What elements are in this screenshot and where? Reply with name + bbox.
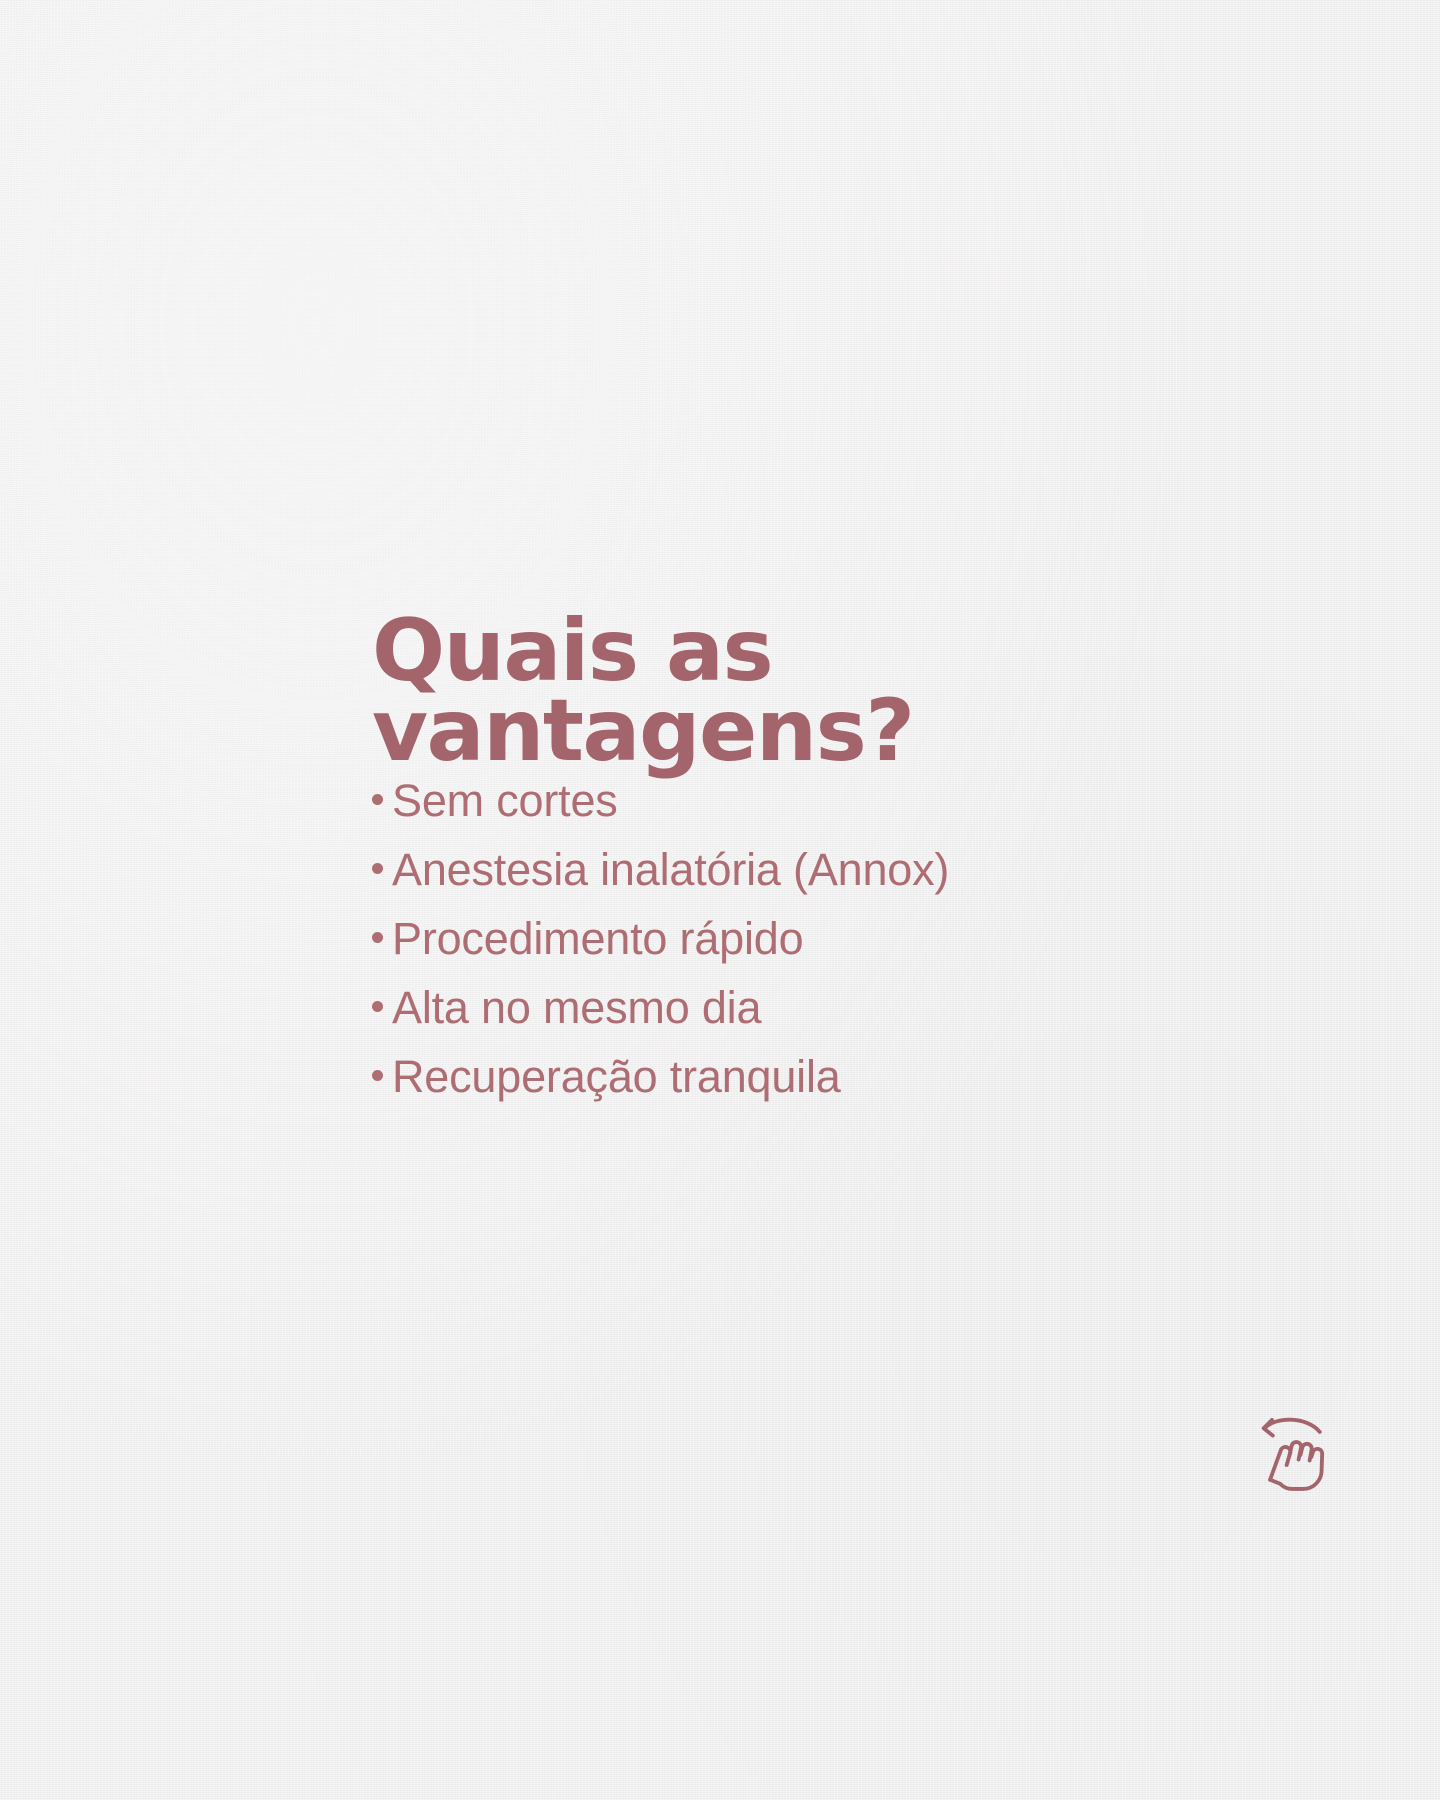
- advantages-list: Sem cortes Anestesia inalatória (Annox) …: [372, 778, 1072, 1099]
- bullet-icon: [372, 863, 383, 874]
- page-title: Quais as vantagens?: [372, 612, 1072, 772]
- bullet-icon: [372, 1001, 383, 1012]
- bullet-icon: [372, 932, 383, 943]
- slide-canvas: Quais as vantagens? Sem cortes Anestesia…: [0, 0, 1440, 1800]
- bullet-icon: [372, 794, 383, 805]
- list-item-label: Recuperação tranquila: [392, 1054, 841, 1099]
- list-item: Anestesia inalatória (Annox): [372, 847, 1072, 892]
- list-item: Alta no mesmo dia: [372, 985, 1072, 1030]
- list-item-label: Sem cortes: [392, 778, 618, 823]
- bullet-icon: [372, 1070, 383, 1081]
- swipe-hand-icon[interactable]: [1248, 1408, 1340, 1500]
- list-item-label: Anestesia inalatória (Annox): [392, 847, 949, 892]
- list-item-label: Alta no mesmo dia: [392, 985, 761, 1030]
- list-item-label: Procedimento rápido: [392, 916, 803, 961]
- content-block: Quais as vantagens? Sem cortes Anestesia…: [372, 612, 1072, 1099]
- list-item: Recuperação tranquila: [372, 1054, 1072, 1099]
- swipe-hand-icon-glyph: [1248, 1408, 1340, 1500]
- list-item: Procedimento rápido: [372, 916, 1072, 961]
- list-item: Sem cortes: [372, 778, 1072, 823]
